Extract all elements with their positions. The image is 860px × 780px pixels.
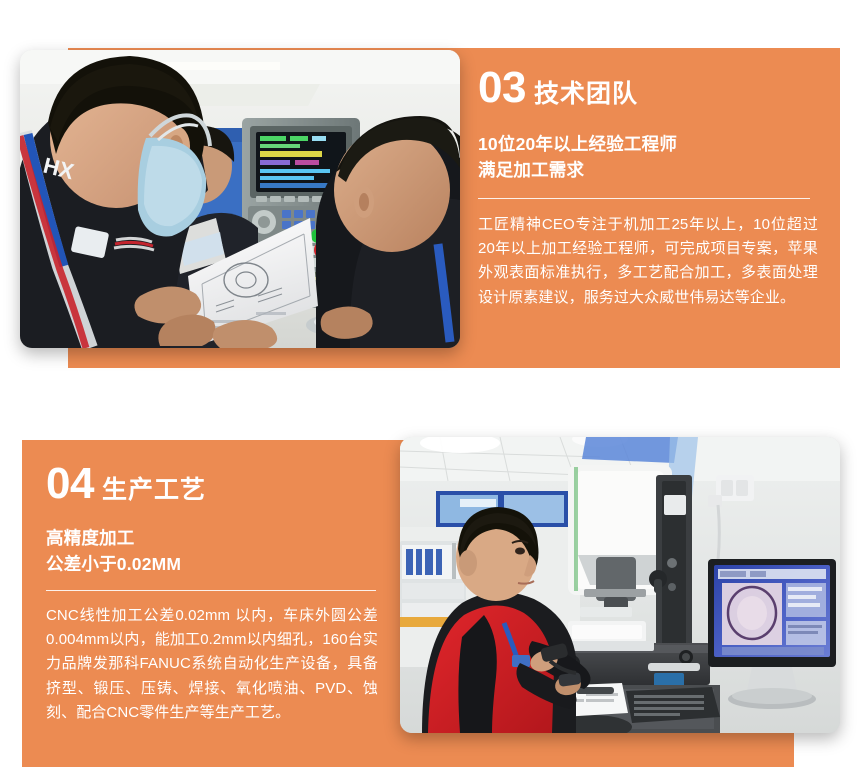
section-03-divider xyxy=(478,198,810,199)
section-04-number: 04 xyxy=(46,462,94,506)
section-04-photo xyxy=(400,437,840,733)
section-03-subtitle-line-1: 10位20年以上经验工程师 xyxy=(478,132,818,158)
section-03-body: 工匠精神CEO专注于机加工25年以上，10位超过20年以上加工经验工程师，可完成… xyxy=(478,213,818,310)
section-04-subtitle-line-2: 公差小于0.02MM xyxy=(46,552,378,578)
section-03-text-block: 03 技术团队 10位20年以上经验工程师 满足加工需求 工匠精神CEO专注于机… xyxy=(478,66,818,310)
section-03-number: 03 xyxy=(478,66,526,110)
section-03-photo-illustration: HX xyxy=(20,50,460,348)
section-04-divider xyxy=(46,590,376,591)
section-04-headline: 04 生产工艺 xyxy=(46,462,378,506)
section-03-subtitle-line-2: 满足加工需求 xyxy=(478,158,818,184)
section-03-headline: 03 技术团队 xyxy=(478,66,818,110)
section-04-subtitle: 高精度加工 公差小于0.02MM xyxy=(46,526,378,578)
section-04-body: CNC线性加工公差0.02mm 以内，车床外圆公差0.004mm以内，能加工0.… xyxy=(46,604,378,725)
section-03-heading: 技术团队 xyxy=(534,82,638,107)
section-04-subtitle-line-1: 高精度加工 xyxy=(46,526,378,552)
section-04-heading: 生产工艺 xyxy=(102,478,206,503)
section-04-photo-illustration xyxy=(400,437,840,733)
section-03-subtitle: 10位20年以上经验工程师 满足加工需求 xyxy=(478,132,818,184)
capability-sections-page: HX xyxy=(0,0,860,780)
section-03-photo: HX xyxy=(20,50,460,348)
section-04-text-block: 04 生产工艺 高精度加工 公差小于0.02MM CNC线性加工公差0.02mm… xyxy=(46,462,378,725)
